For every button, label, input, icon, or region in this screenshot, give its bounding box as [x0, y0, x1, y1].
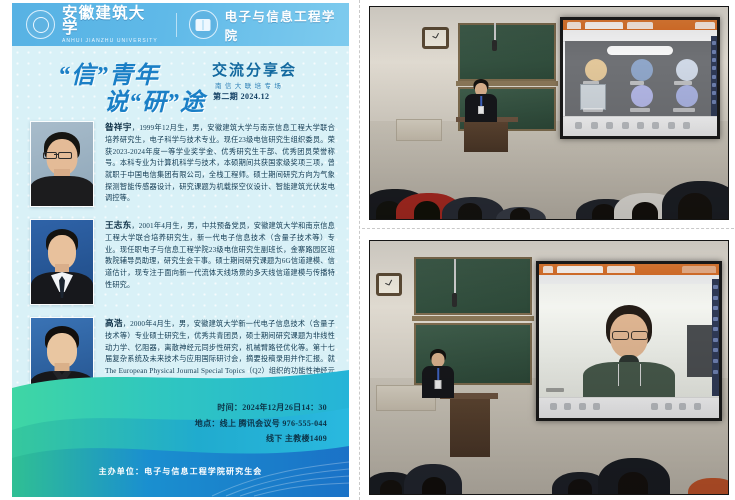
speaker-name-1: 昝祥宇: [105, 122, 132, 132]
meeting-side-panel[interactable]: [712, 279, 719, 396]
self-view-tile[interactable]: [580, 84, 606, 110]
speaker-profile-row: 王志东，2001年4月生，男，中共预备党员，安徽建筑大学和南京信息工程大学联合培…: [12, 219, 349, 305]
screenshot-root: 安徽建筑大学 ANHUI JIANZHU UNIVERSITY 电子与信息工程学…: [0, 0, 735, 500]
event-place-value-2: 线下 主教楼1409: [266, 434, 327, 443]
search-input[interactable]: [607, 46, 673, 54]
poster-header: 安徽建筑大学 ANHUI JIANZHU UNIVERSITY 电子与信息工程学…: [12, 3, 349, 46]
panel-horizontal-divider: [362, 228, 734, 229]
event-place-label: 地点：: [195, 419, 220, 428]
classroom-scene-top: [370, 7, 728, 219]
poster-title-line2: 说“研”途: [104, 82, 205, 117]
speaker-name-3: 高浩: [105, 318, 123, 328]
poster-subtitle-secondary: 南信大联培专场: [215, 80, 284, 90]
event-place-line: 地点：线上 腾讯会议号 976-555-044: [12, 416, 327, 432]
event-time-label: 时间：: [217, 403, 242, 412]
university-name-cn: 安徽建筑大学: [62, 6, 162, 37]
wall-clock-icon: [376, 273, 402, 296]
event-time-line: 时间：2024年12月26日14：30: [12, 400, 327, 416]
wall-clock-icon: [422, 27, 449, 49]
panel-vertical-divider: [359, 0, 360, 500]
participant-avatar[interactable]: [585, 59, 607, 81]
participant-avatar[interactable]: [631, 59, 653, 81]
header-divider: [176, 13, 177, 37]
meeting-control-bar[interactable]: [539, 397, 719, 418]
remote-presenter-video: [539, 284, 719, 398]
projection-screen-top[interactable]: [560, 17, 720, 139]
participant-name-label: [674, 81, 692, 85]
open-book-seal-icon: [189, 10, 218, 39]
university-name-block: 安徽建筑大学 ANHUI JIANZHU UNIVERSITY: [62, 6, 162, 44]
poster-title-block: “信”青年 说“研”途 交流分享会 南信大联培专场 第二期 2024.12: [12, 53, 349, 119]
event-organizer: 主办单位：电子与信息工程学院研究生会: [12, 466, 349, 477]
remote-video-feed[interactable]: [539, 284, 719, 398]
event-time-value: 2024年12月26日14：30: [242, 403, 327, 412]
meeting-side-panel[interactable]: [711, 36, 717, 120]
projection-screen-bottom[interactable]: [536, 261, 722, 421]
microphone-cable: [454, 259, 456, 293]
poster-wave-decoration: 时间：2024年12月26日14：30 地点：线上 腾讯会议号 976-555-…: [12, 362, 349, 497]
meeting-gallery-area: [565, 41, 714, 118]
chalkboard-rail: [412, 316, 534, 321]
speaker-name-2: 王志东: [105, 220, 131, 230]
event-poster: 安徽建筑大学 ANHUI JIANZHU UNIVERSITY 电子与信息工程学…: [12, 3, 349, 497]
classroom-scene-bottom: [370, 241, 728, 494]
meeting-control-bar[interactable]: [563, 116, 717, 136]
speaker-portrait-2: [30, 219, 94, 305]
meeting-app-window[interactable]: [563, 20, 717, 136]
participant-name-label: [630, 81, 644, 85]
audience-row-top: [370, 138, 728, 219]
speaker-bio-text-1: ，1999年12月生，男，安徽建筑大学与南京信息工程大学联合培养研究生，电子科学…: [105, 124, 335, 202]
speaker-bio-1: 昝祥宇，1999年12月生，男，安徽建筑大学与南京信息工程大学联合培养研究生，电…: [105, 121, 335, 207]
event-place-line-2: 线下 主教楼1409: [12, 431, 327, 447]
event-info-block: 时间：2024年12月26日14：30 地点：线上 腾讯会议号 976-555-…: [12, 400, 349, 447]
participant-avatar[interactable]: [676, 85, 698, 107]
app-title-bar: [539, 264, 719, 275]
microphone-icon: [492, 40, 497, 51]
participant-avatar[interactable]: [676, 59, 698, 81]
microphone-cable: [494, 23, 496, 41]
college-name-cn: 电子与信息工程学院: [225, 6, 349, 44]
participant-avatar[interactable]: [631, 85, 653, 107]
audience-row-bottom: [370, 418, 728, 494]
speaker-bio-text-2: ，2001年4月生，男，中共预备党员，安徽建筑大学和南京信息工程大学联合培养研究…: [105, 222, 335, 289]
chalkboard-upper: [458, 23, 556, 81]
app-toolbar: [539, 275, 719, 284]
participant-name-label: [673, 108, 695, 112]
university-name-en: ANHUI JIANZHU UNIVERSITY: [62, 39, 162, 44]
event-place-value: 线上 腾讯会议号 976-555-044: [220, 419, 327, 428]
participant-name-label: [630, 108, 650, 112]
speaker-at-podium: [463, 79, 499, 121]
speaker-bio-2: 王志东，2001年4月生，男，中共预备党员，安徽建筑大学和南京信息工程大学联合培…: [105, 219, 335, 305]
microphone-icon: [452, 293, 457, 307]
photo-classroom-remote-speaker: [369, 240, 729, 495]
poster-issue-label: 第二期 2024.12: [213, 91, 269, 102]
university-seal-icon: [26, 10, 55, 39]
chalkboard-upper: [414, 257, 532, 315]
poster-subtitle-main: 交流分享会: [212, 59, 297, 80]
speaker-profile-row: 昝祥宇，1999年12月生，男，安徽建筑大学与南京信息工程大学联合培养研究生，电…: [12, 121, 349, 207]
speaker-portrait-1: [30, 121, 94, 207]
photo-classroom-gallery-view: [369, 6, 729, 220]
app-title-bar: [563, 20, 717, 30]
speaker-at-podium: [420, 349, 456, 397]
meeting-app-window[interactable]: [539, 264, 719, 418]
participant-name-label: [546, 388, 564, 392]
participant-name-label: [583, 108, 603, 112]
